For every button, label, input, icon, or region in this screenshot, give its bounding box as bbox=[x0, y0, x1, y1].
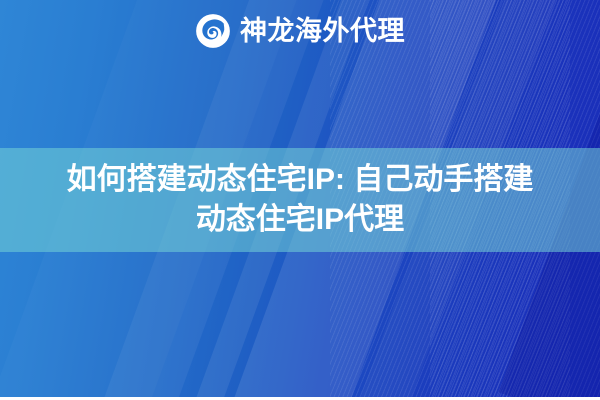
headline-line-2: 动态住宅IP代理 bbox=[196, 200, 404, 240]
shenlong-swirl-logo-icon bbox=[195, 13, 231, 49]
headline: 如何搭建动态住宅IP: 自己动手搭建 动态住宅IP代理 bbox=[0, 152, 600, 248]
promo-banner: 神龙海外代理 如何搭建动态住宅IP: 自己动手搭建 动态住宅IP代理 bbox=[0, 0, 600, 400]
brand-logo: 神龙海外代理 bbox=[0, 13, 600, 49]
brand-name: 神龙海外代理 bbox=[240, 18, 405, 45]
headline-line-1: 如何搭建动态住宅IP: 自己动手搭建 bbox=[67, 160, 534, 200]
